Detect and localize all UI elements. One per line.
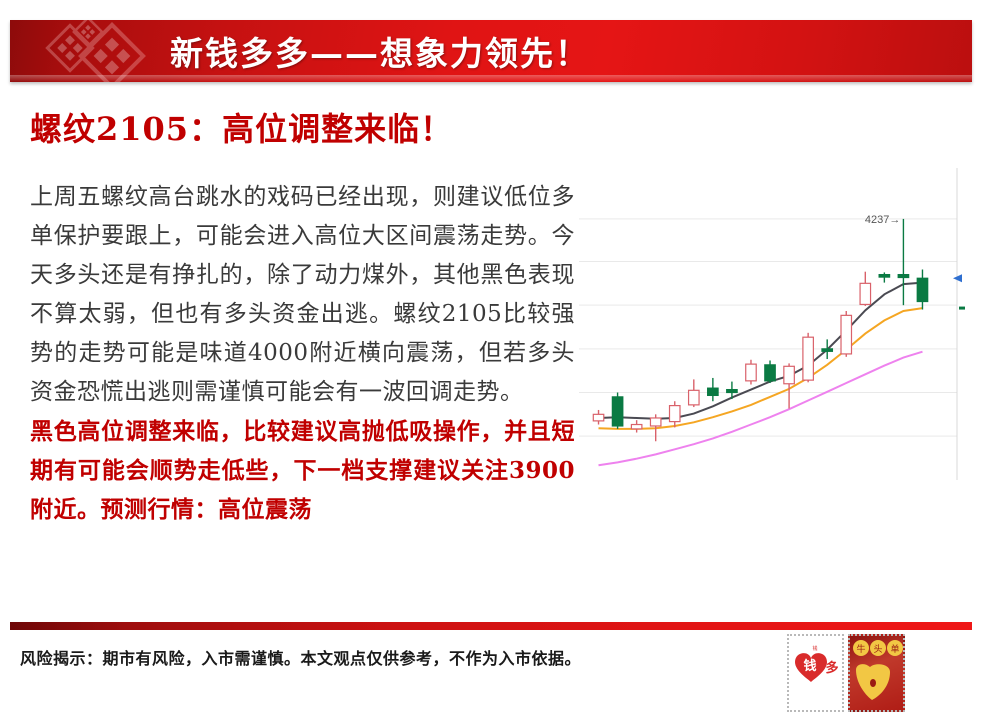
candle-body	[631, 425, 641, 429]
candle	[841, 311, 851, 357]
candle-body	[841, 315, 851, 354]
diamond-pattern-logo	[36, 20, 168, 82]
svg-text:钱: 钱	[803, 658, 816, 674]
candle	[765, 360, 775, 383]
niu-tou-dan-stamp-art: 牛 头 单	[850, 636, 903, 710]
article-body: 上周五螺纹高台跳水的戏码已经出现，则建议低位多单保护要跟上，可能会进入高位大区间…	[30, 178, 575, 529]
candle	[803, 333, 813, 382]
page-title: 螺纹2105：高位调整来临！	[30, 104, 590, 150]
candle-body	[822, 349, 832, 352]
candle-body	[860, 283, 870, 304]
niu-tou-dan-stamp: 牛 头 单	[848, 634, 905, 712]
candle	[593, 410, 603, 425]
paragraph-analysis: 上周五螺纹高台跳水的戏码已经出现，则建议低位多单保护要跟上，可能会进入高位大区间…	[30, 178, 575, 412]
high-price-annotation: 4237→	[865, 214, 900, 226]
candle-body	[746, 364, 756, 381]
candle-body	[689, 390, 699, 405]
candle	[746, 360, 756, 385]
svg-text:牛: 牛	[856, 643, 865, 655]
candle-body	[593, 414, 603, 421]
candle	[860, 272, 870, 306]
ma10-line	[599, 308, 923, 429]
candle	[822, 339, 832, 359]
candle-series	[593, 219, 927, 441]
candle-body	[784, 366, 794, 383]
ma5-line	[599, 283, 923, 419]
qian-duo-duo-stamp-art: 钱 多 钱	[789, 636, 842, 710]
candle-body	[727, 390, 737, 393]
footer-stamps: 钱 多 钱 牛 头 单	[787, 634, 905, 712]
svg-text:钱: 钱	[812, 645, 817, 652]
brand-title: 新钱多多——想象力领先！	[170, 27, 590, 75]
chart-svg: 4237→	[575, 168, 970, 484]
candle	[631, 420, 641, 432]
risk-disclaimer: 风险揭示：期市有风险，入市需谨慎。本文观点仅供参考，不作为入市依据。	[20, 645, 581, 669]
candle-body	[708, 388, 718, 395]
qian-duo-duo-stamp: 钱 多 钱	[787, 634, 844, 712]
candle-body	[879, 275, 889, 278]
candle	[917, 270, 927, 310]
candle-body	[650, 418, 660, 426]
footer-divider	[10, 622, 972, 630]
candle	[879, 272, 889, 282]
candlestick-chart[interactable]: 4237→	[575, 168, 970, 484]
candle-body	[765, 365, 775, 381]
candle-body	[898, 275, 908, 278]
ma20-line	[599, 352, 923, 466]
svg-text:单: 单	[890, 643, 899, 655]
svg-text:头: 头	[873, 644, 882, 655]
candle	[689, 379, 699, 407]
candle	[898, 219, 908, 305]
header-banner: 新钱多多——想象力领先！	[10, 20, 972, 82]
svg-text:多: 多	[825, 660, 838, 676]
candle-body	[612, 397, 622, 426]
candle	[708, 378, 718, 401]
ma-edge-marker	[959, 307, 965, 310]
candle-body	[670, 406, 680, 422]
candle	[670, 401, 680, 427]
paragraph-conclusion: 黑色高位调整来临，比较建议高抛低吸操作，并且短期有可能会顺势走低些，下一档支撑建…	[30, 412, 575, 529]
candle-body	[917, 278, 927, 301]
candle-body	[803, 337, 813, 380]
candle	[612, 393, 622, 429]
chart-gridlines	[579, 219, 957, 436]
